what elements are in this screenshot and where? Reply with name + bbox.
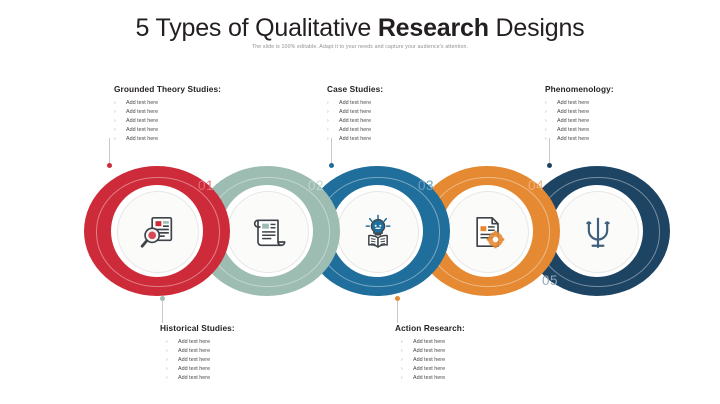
page-title: 5 Types of Qualitative Research Designs bbox=[0, 13, 720, 43]
bullet-icon: › bbox=[327, 99, 339, 108]
list-item: ›Add text here bbox=[114, 135, 264, 144]
list-item-label: Add text here bbox=[178, 365, 210, 374]
list-item-label: Add text here bbox=[413, 338, 445, 347]
block-heading: Historical Studies: bbox=[160, 323, 320, 334]
bullet-icon: › bbox=[327, 135, 339, 144]
list-item: ›Add text here bbox=[327, 108, 477, 117]
connector-stem-action-research bbox=[397, 301, 398, 323]
text-block-case-studies: Case Studies: ›Add text here ›Add text h… bbox=[327, 84, 477, 144]
page-title-highlight: Research bbox=[378, 14, 489, 42]
bullet-icon: › bbox=[401, 338, 413, 347]
bullet-icon: › bbox=[114, 108, 126, 117]
list-item-label: Add text here bbox=[557, 126, 589, 135]
bullet-icon: › bbox=[545, 135, 557, 144]
bullet-icon: › bbox=[327, 117, 339, 126]
slide-footer-strip bbox=[0, 398, 720, 404]
list-item-label: Add text here bbox=[413, 374, 445, 383]
bullet-icon: › bbox=[114, 126, 126, 135]
list-item-label: Add text here bbox=[339, 108, 371, 117]
node-icon-well bbox=[117, 191, 199, 273]
list-item: ›Add text here bbox=[545, 135, 695, 144]
node-number: 04 bbox=[528, 178, 544, 193]
chain-node-01[interactable]: 01 bbox=[84, 166, 230, 296]
block-bullet-list: ›Add text here ›Add text here ›Add text … bbox=[395, 338, 555, 383]
bullet-icon: › bbox=[545, 108, 557, 117]
list-item-label: Add text here bbox=[178, 347, 210, 356]
list-item-label: Add text here bbox=[126, 126, 158, 135]
bullet-icon: › bbox=[114, 99, 126, 108]
list-item-label: Add text here bbox=[557, 117, 589, 126]
node-number: 01 bbox=[198, 178, 214, 193]
list-item: ›Add text here bbox=[327, 135, 477, 144]
block-heading: Phenomenology: bbox=[545, 84, 695, 95]
infographic-slide: 5 Types of Qualitative Research Designs … bbox=[0, 0, 720, 404]
bullet-icon: › bbox=[401, 365, 413, 374]
bullet-icon: › bbox=[166, 347, 178, 356]
list-item: ›Add text here bbox=[166, 365, 320, 374]
bullet-icon: › bbox=[166, 365, 178, 374]
list-item: ›Add text here bbox=[401, 347, 555, 356]
magnifier-document-icon bbox=[138, 212, 178, 252]
block-bullet-list: ›Add text here ›Add text here ›Add text … bbox=[327, 99, 477, 144]
connector-stem-case-studies bbox=[331, 138, 332, 165]
list-item-label: Add text here bbox=[339, 117, 371, 126]
bullet-icon: › bbox=[545, 117, 557, 126]
lightbulb-book-icon bbox=[358, 212, 398, 252]
list-item: ›Add text here bbox=[545, 117, 695, 126]
bullet-icon: › bbox=[114, 135, 126, 144]
list-item: ›Add text here bbox=[545, 126, 695, 135]
text-block-phenomenology: Phenomenology: ›Add text here ›Add text … bbox=[545, 84, 695, 144]
list-item-label: Add text here bbox=[413, 365, 445, 374]
list-item: ›Add text here bbox=[545, 108, 695, 117]
bullet-icon: › bbox=[401, 347, 413, 356]
text-block-grounded-theory-studies: Grounded Theory Studies: ›Add text here … bbox=[114, 84, 264, 144]
list-item-label: Add text here bbox=[339, 135, 371, 144]
block-heading: Action Research: bbox=[395, 323, 555, 334]
bullet-icon: › bbox=[327, 108, 339, 117]
list-item-label: Add text here bbox=[339, 99, 371, 108]
list-item-label: Add text here bbox=[126, 99, 158, 108]
list-item: ›Add text here bbox=[114, 117, 264, 126]
connector-stem-grounded-theory bbox=[109, 138, 110, 165]
block-bullet-list: ›Add text here ›Add text here ›Add text … bbox=[545, 99, 695, 144]
list-item: ›Add text here bbox=[401, 365, 555, 374]
node-icon-well bbox=[557, 191, 639, 273]
text-block-historical-studies: Historical Studies: ›Add text here ›Add … bbox=[160, 323, 320, 383]
bullet-icon: › bbox=[114, 117, 126, 126]
list-item: ›Add text here bbox=[114, 99, 264, 108]
node-icon-well bbox=[337, 191, 419, 273]
list-item-label: Add text here bbox=[339, 126, 371, 135]
page-subtitle: The slide is 100% editable. Adapt it to … bbox=[0, 43, 720, 52]
bullet-icon: › bbox=[545, 126, 557, 135]
list-item-label: Add text here bbox=[413, 347, 445, 356]
list-item: ›Add text here bbox=[166, 356, 320, 365]
list-item: ›Add text here bbox=[327, 126, 477, 135]
list-item-label: Add text here bbox=[557, 108, 589, 117]
list-item: ›Add text here bbox=[401, 356, 555, 365]
list-item-label: Add text here bbox=[413, 356, 445, 365]
list-item-label: Add text here bbox=[126, 108, 158, 117]
list-item-label: Add text here bbox=[178, 338, 210, 347]
psi-symbol-icon bbox=[578, 212, 618, 252]
block-heading: Case Studies: bbox=[327, 84, 477, 95]
bullet-icon: › bbox=[545, 99, 557, 108]
list-item-label: Add text here bbox=[557, 135, 589, 144]
node-number: 02 bbox=[308, 178, 324, 193]
block-bullet-list: ›Add text here ›Add text here ›Add text … bbox=[114, 99, 264, 144]
scroll-document-icon bbox=[248, 212, 288, 252]
bullet-icon: › bbox=[327, 126, 339, 135]
bullet-icon: › bbox=[166, 338, 178, 347]
page-title-suffix: Designs bbox=[489, 14, 585, 42]
list-item: ›Add text here bbox=[166, 338, 320, 347]
list-item: ›Add text here bbox=[401, 374, 555, 383]
connector-stem-historical-studies bbox=[162, 301, 163, 323]
block-heading: Grounded Theory Studies: bbox=[114, 84, 264, 95]
list-item: ›Add text here bbox=[166, 374, 320, 383]
list-item-label: Add text here bbox=[178, 356, 210, 365]
list-item-label: Add text here bbox=[126, 135, 158, 144]
list-item: ›Add text here bbox=[327, 99, 477, 108]
list-item-label: Add text here bbox=[557, 99, 589, 108]
list-item: ›Add text here bbox=[114, 108, 264, 117]
bullet-icon: › bbox=[166, 374, 178, 383]
node-number: 03 bbox=[418, 178, 434, 193]
bullet-icon: › bbox=[401, 356, 413, 365]
block-bullet-list: ›Add text here ›Add text here ›Add text … bbox=[160, 338, 320, 383]
list-item-label: Add text here bbox=[126, 117, 158, 126]
document-gear-icon bbox=[468, 212, 508, 252]
page-title-prefix: 5 Types of Qualitative bbox=[136, 14, 378, 42]
text-block-action-research: Action Research: ›Add text here ›Add tex… bbox=[395, 323, 555, 383]
list-item-label: Add text here bbox=[178, 374, 210, 383]
bullet-icon: › bbox=[166, 356, 178, 365]
list-item: ›Add text here bbox=[166, 347, 320, 356]
node-icon-well bbox=[447, 191, 529, 273]
list-item: ›Add text here bbox=[545, 99, 695, 108]
process-chain: 01 bbox=[0, 166, 720, 296]
list-item: ›Add text here bbox=[401, 338, 555, 347]
connector-stem-phenomenology bbox=[549, 138, 550, 165]
bullet-icon: › bbox=[401, 374, 413, 383]
node-icon-well bbox=[227, 191, 309, 273]
list-item: ›Add text here bbox=[327, 117, 477, 126]
list-item: ›Add text here bbox=[114, 126, 264, 135]
